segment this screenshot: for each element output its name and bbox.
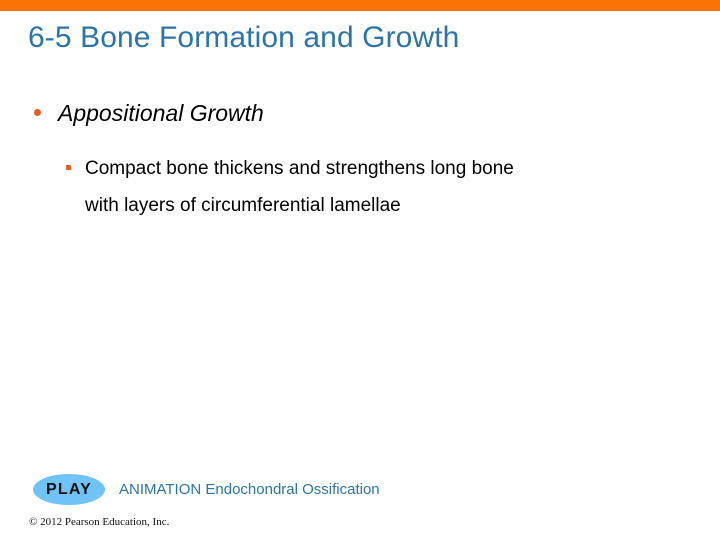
- copyright-notice: © 2012 Pearson Education, Inc.: [29, 516, 169, 528]
- animation-link-label[interactable]: ANIMATION Endochondral Ossification: [119, 481, 380, 498]
- slide-body: Appositional Growth Compact bone thicken…: [0, 98, 720, 224]
- animation-row: PLAY ANIMATION Endochondral Ossification: [0, 472, 720, 508]
- page-title: 6-5 Bone Formation and Growth: [28, 20, 688, 56]
- bullet-level2-line-1: Compact bone thickens and strengthens lo…: [85, 150, 660, 187]
- play-button[interactable]: PLAY: [33, 474, 105, 505]
- round-bullet-icon: [34, 109, 41, 116]
- bullet-level1-text: Appositional Growth: [58, 100, 264, 126]
- accent-bar: [0, 0, 720, 11]
- list-item: Compact bone thickens and strengthens lo…: [0, 150, 720, 224]
- square-bullet-icon: [66, 165, 71, 170]
- play-button-label: PLAY: [46, 482, 92, 498]
- bullet-level2-line-2: with layers of circumferential lamellae: [85, 187, 660, 224]
- slide-canvas: 6-5 Bone Formation and Growth Apposition…: [0, 0, 720, 540]
- list-item: Appositional Growth: [0, 98, 720, 128]
